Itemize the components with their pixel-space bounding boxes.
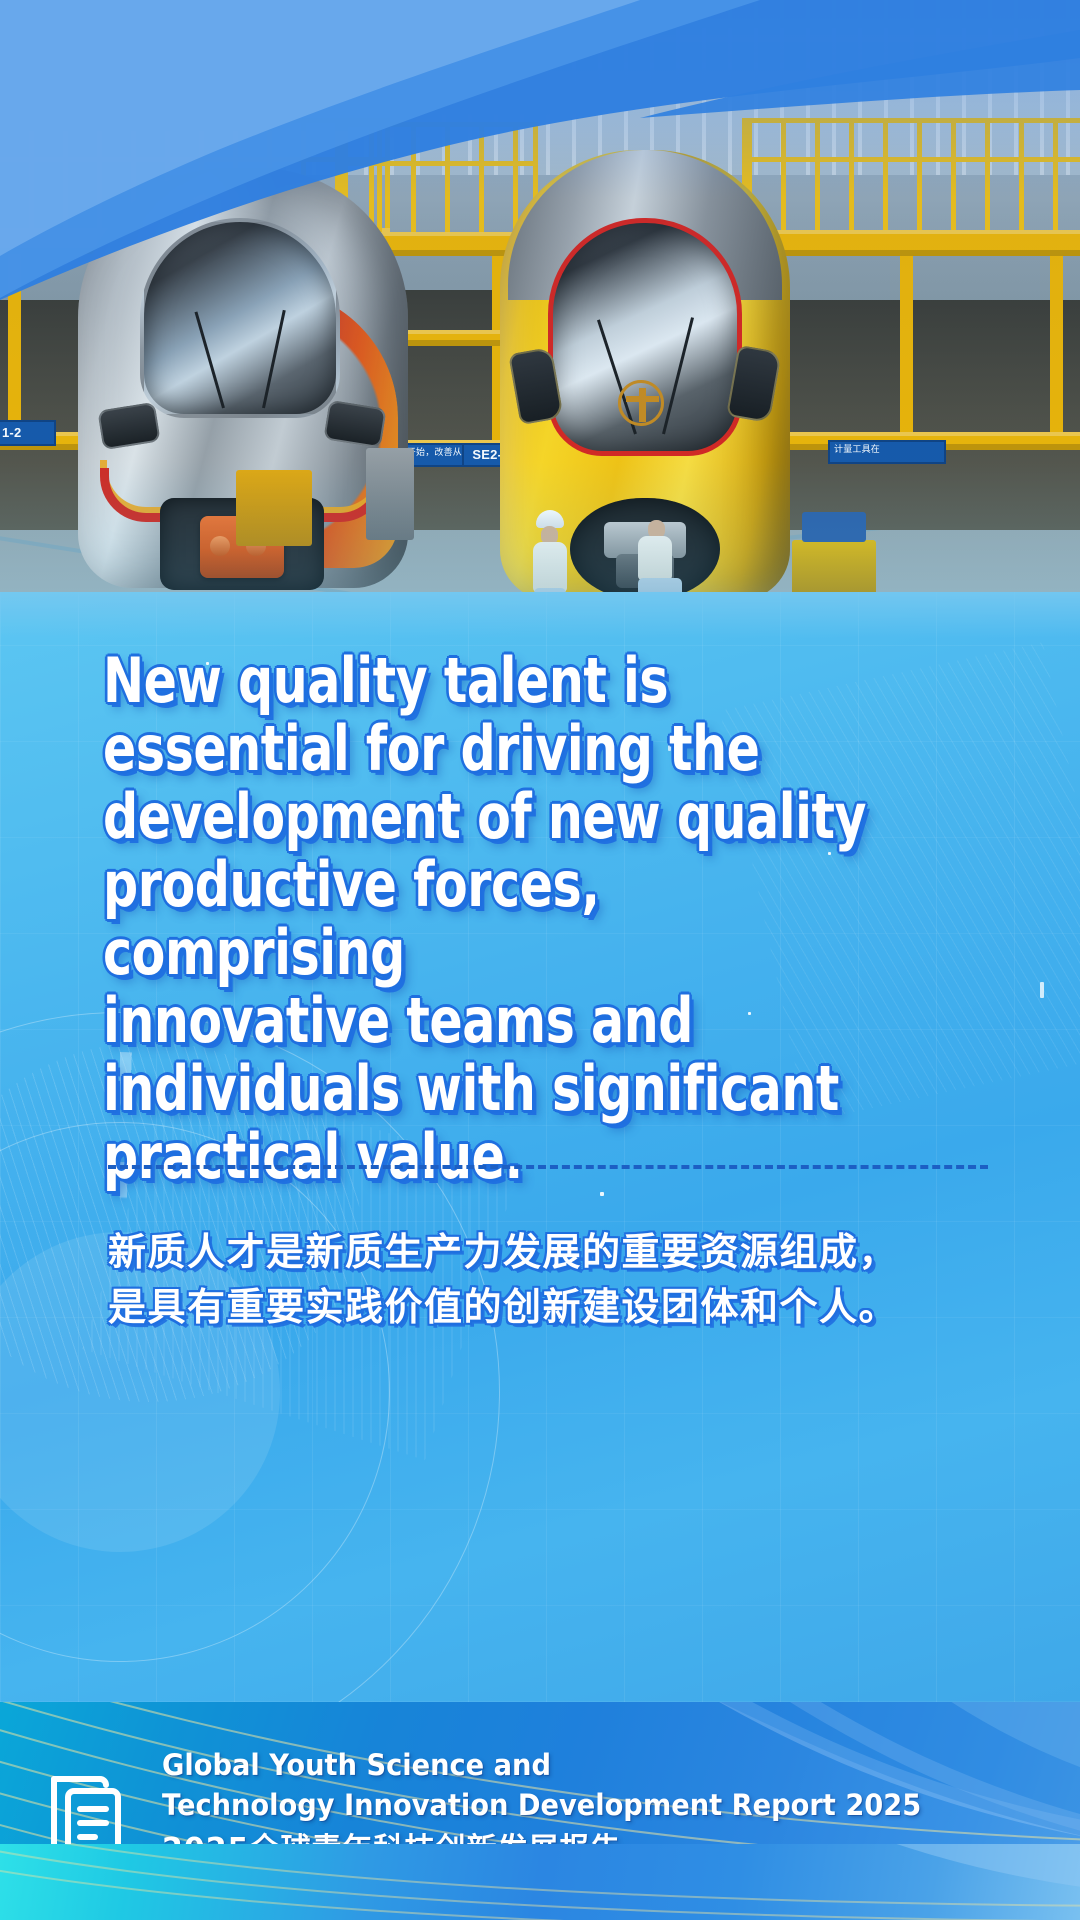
headline-line: essential for driving the [103, 715, 877, 783]
headline-chinese: 新质人才是新质生产力发展的重要资源组成， 是具有重要实践价值的创新建设团体和个人… [108, 1225, 1008, 1335]
spark-dot [600, 1192, 604, 1196]
chinese-line: 新质人才是新质生产力发展的重要资源组成， [108, 1225, 1008, 1280]
footer-title-en-line1: Global Youth Science and [162, 1746, 921, 1784]
footer-title-en-line2: Technology Innovation Development Report… [162, 1786, 921, 1824]
headline-line: practical value. [103, 1123, 877, 1191]
header-wave-decoration [0, 0, 1080, 300]
chinese-line: 是具有重要实践价值的创新建设团体和个人。 [108, 1280, 1008, 1335]
headline-english: New quality talent is essential for driv… [103, 647, 877, 1191]
dashed-divider [108, 1165, 988, 1169]
spark-dot [1040, 982, 1044, 998]
headline-line: productive forces, comprising [103, 851, 877, 987]
poster-root: 1-2 精益从心开始，改善从我做起 SE2-2 计量工具在 [0, 0, 1080, 1920]
bottom-accent-lines [0, 1844, 1080, 1920]
content-panel: New quality talent is essential for driv… [0, 592, 1080, 1702]
headline-line: individuals with significant [103, 1055, 877, 1123]
headline-line: New quality talent is [103, 647, 877, 715]
panel-top-fade [0, 592, 1080, 638]
headline-line: development of new quality [103, 783, 877, 851]
footer-bar: Global Youth Science and Technology Inno… [0, 1702, 1080, 1920]
factory-photo: 1-2 精益从心开始，改善从我做起 SE2-2 计量工具在 [0, 0, 1080, 660]
footer-bottom-accent-bar [0, 1844, 1080, 1920]
headline-line: innovative teams and [103, 987, 877, 1055]
